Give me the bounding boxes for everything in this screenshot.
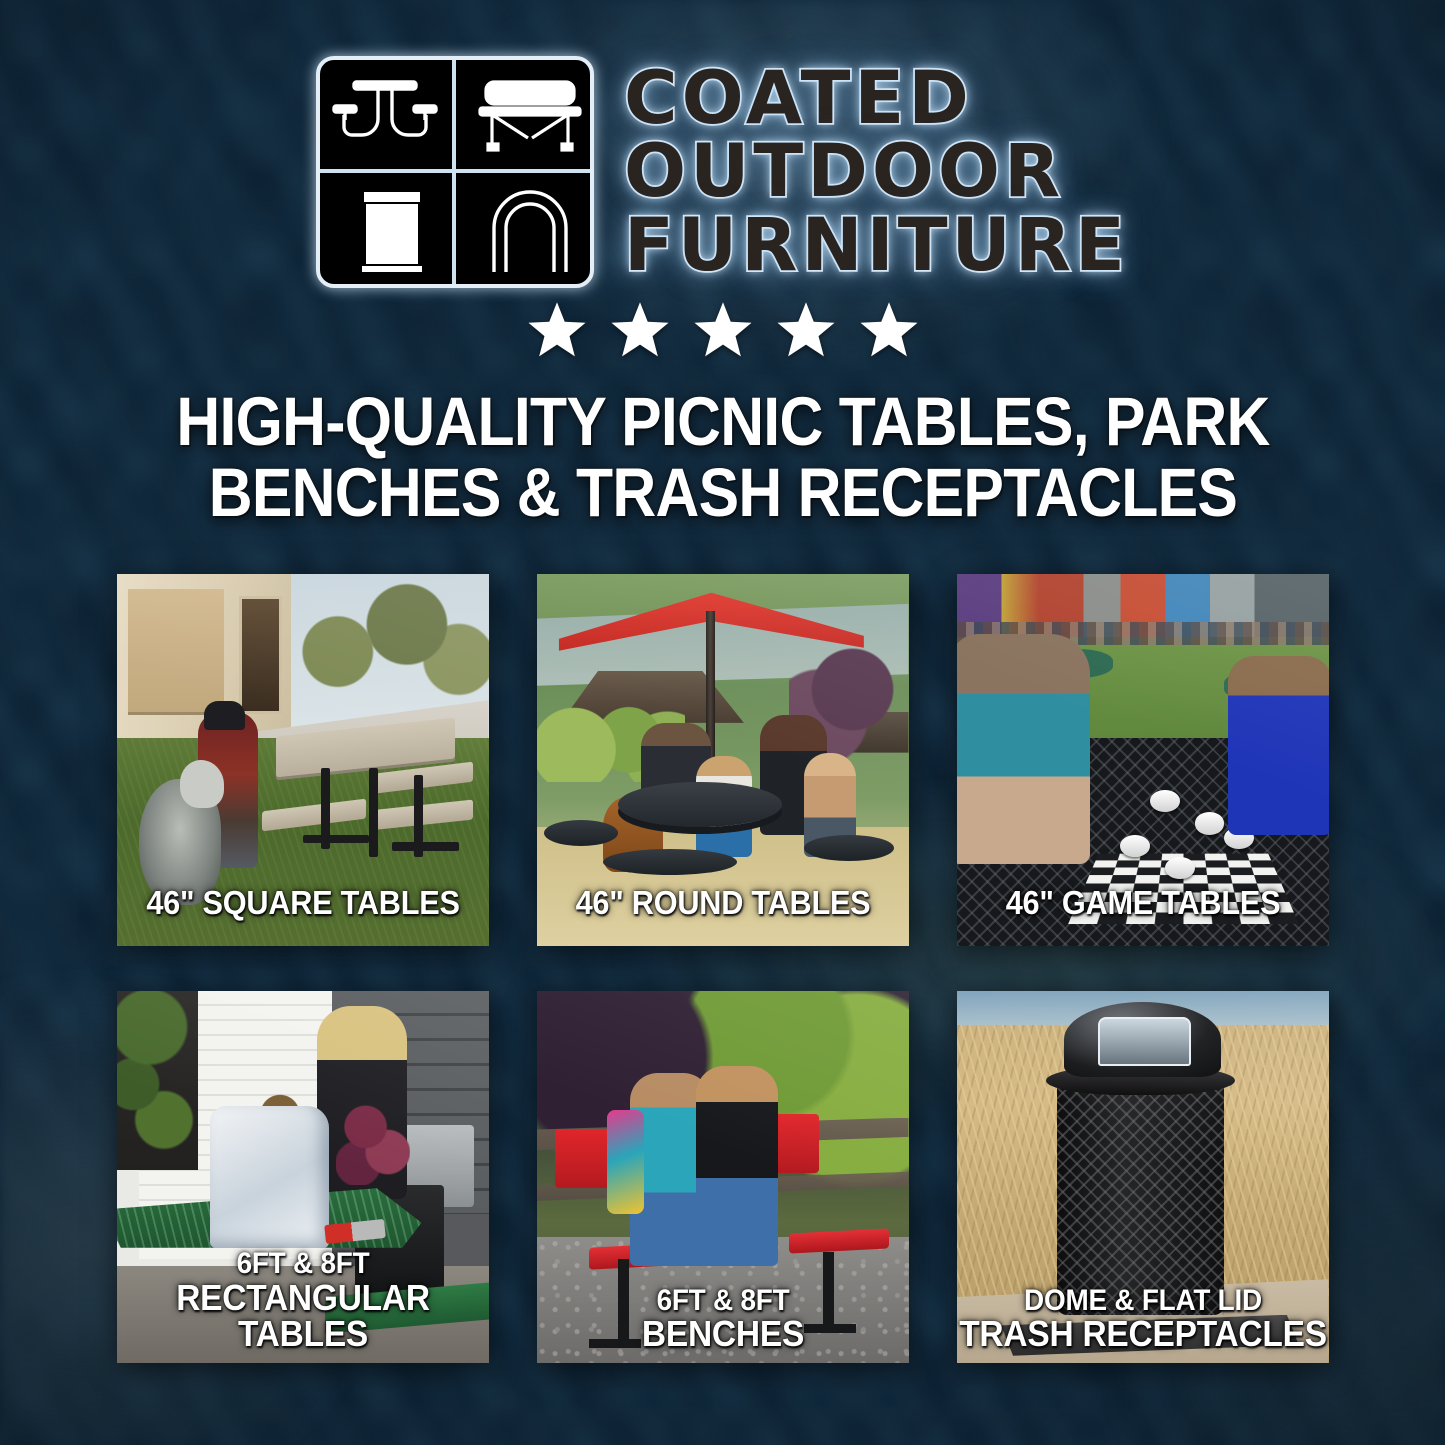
logo-wordmark: COATED OUTDOOR FURNITURE <box>624 63 1129 282</box>
logo-line-3: FURNITURE <box>624 210 1129 282</box>
headline: HIGH-QUALITY PICNIC TABLES, PARK BENCHES… <box>159 386 1285 528</box>
headline-line-1: HIGH-QUALITY PICNIC TABLES, PARK <box>159 386 1285 457</box>
promo-poster: COATED OUTDOOR FURNITURE HIGH-QUALITY PI… <box>0 0 1445 1445</box>
product-photo-rectangular-tables <box>117 991 489 1363</box>
product-photo-trash-receptacles <box>957 991 1329 1363</box>
logo-line-1: COATED <box>624 63 973 135</box>
star-rating <box>524 298 922 362</box>
product-card-rectangular-tables[interactable]: 6FT & 8FT RECTANGULAR TABLES <box>117 991 489 1363</box>
brand-logo: COATED OUTDOOR FURNITURE <box>316 52 1129 292</box>
logo-icon-grid <box>316 56 594 288</box>
product-card-game-tables[interactable]: 46" GAME TABLES <box>957 574 1329 946</box>
logo-line-2: OUTDOOR <box>624 136 1064 208</box>
product-card-square-tables[interactable]: 46" SQUARE TABLES <box>117 574 489 946</box>
product-card-trash-receptacles[interactable]: DOME & FLAT LID TRASH RECEPTACLES <box>957 991 1329 1363</box>
star-icon <box>773 298 839 362</box>
product-photo-game-tables <box>957 574 1329 946</box>
product-grid: 46" SQUARE TABLES <box>117 574 1329 1363</box>
star-icon <box>856 298 922 362</box>
product-photo-round-tables <box>537 574 909 946</box>
product-card-round-tables[interactable]: 46" ROUND TABLES <box>537 574 909 946</box>
star-icon <box>524 298 590 362</box>
headline-line-2: BENCHES & TRASH RECEPTACLES <box>159 457 1285 528</box>
star-icon <box>690 298 756 362</box>
trash-receptacle-icon <box>362 192 422 272</box>
product-photo-benches <box>537 991 909 1363</box>
product-photo-square-tables <box>117 574 489 946</box>
star-icon <box>607 298 673 362</box>
product-card-benches[interactable]: 6FT & 8FT BENCHES <box>537 991 909 1363</box>
